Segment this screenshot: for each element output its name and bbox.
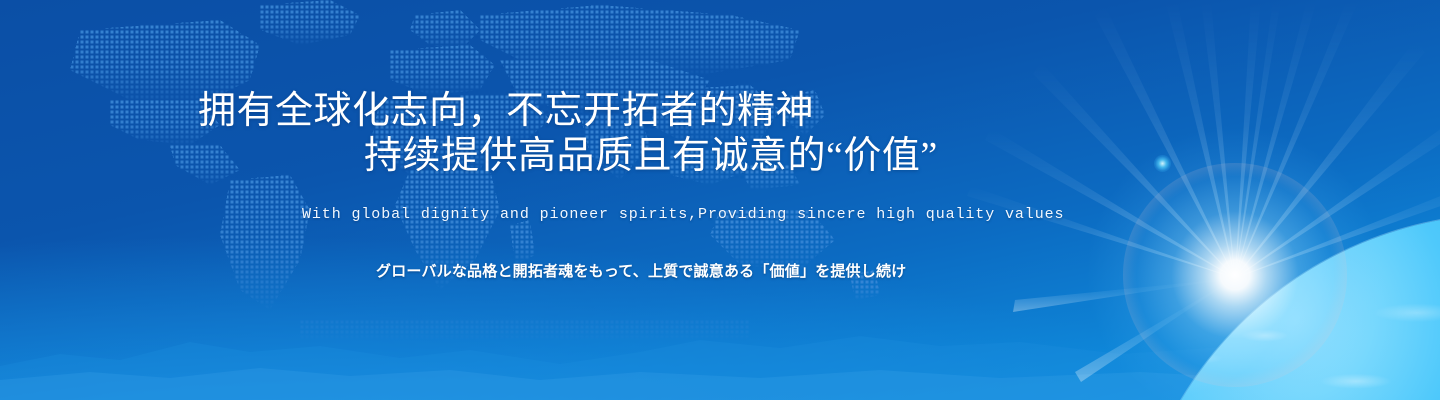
subtitle-japanese: グローバルな品格と開拓者魂をもって、上質で誠意ある「価値」を提供し続け <box>376 260 906 281</box>
headline-line-1: 拥有全球化志向，不忘开拓者的精神 <box>198 92 814 130</box>
planet-globe <box>1128 214 1440 400</box>
subtitle-english: With global dignity and pioneer spirits,… <box>302 206 1064 223</box>
planet-rim-highlight <box>1128 214 1440 400</box>
star-glow <box>1154 155 1171 172</box>
dot-matrix-world-map <box>0 0 1100 345</box>
headline-line-2: 持续提供高品质且有诚意的“价值” <box>364 137 938 175</box>
banner-copy: 拥有全球化志向，不忘开拓者的精神 持续提供高品质且有诚意的“价值” With g… <box>0 0 1100 400</box>
hero-banner: 拥有全球化志向，不忘开拓者的精神 持续提供高品质且有诚意的“价值” With g… <box>0 0 1440 400</box>
